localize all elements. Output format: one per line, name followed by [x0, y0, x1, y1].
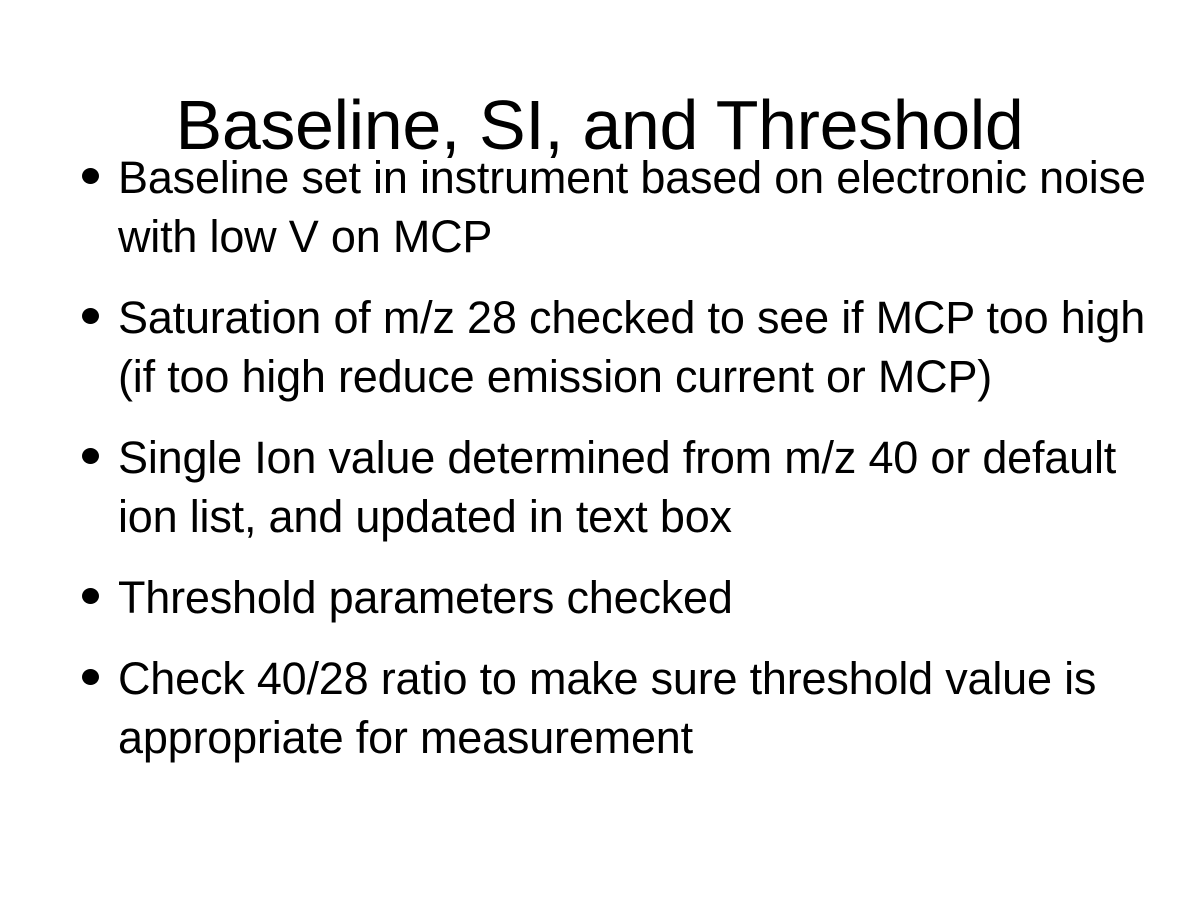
- presentation-slide: Baseline, SI, and Threshold Baseline set…: [0, 0, 1199, 899]
- list-item: Saturation of m/z 28 checked to see if M…: [75, 288, 1165, 406]
- bullet-list: Baseline set in instrument based on elec…: [75, 148, 1165, 767]
- bullet-point-icon: [82, 448, 99, 464]
- list-item: Single Ion value determined from m/z 40 …: [75, 428, 1165, 546]
- list-item: Baseline set in instrument based on elec…: [75, 148, 1165, 266]
- bullet-point-icon: [82, 669, 99, 685]
- bullet-point-icon: [82, 588, 99, 604]
- bullet-point-icon: [82, 308, 99, 324]
- list-item-label: Check 40/28 ratio to make sure threshold…: [118, 649, 1165, 767]
- list-item-label: Saturation of m/z 28 checked to see if M…: [118, 288, 1165, 406]
- list-item: Threshold parameters checked: [75, 568, 1165, 627]
- list-item-label: Single Ion value determined from m/z 40 …: [118, 428, 1165, 546]
- list-item-label: Baseline set in instrument based on elec…: [118, 148, 1165, 266]
- list-item-label: Threshold parameters checked: [118, 568, 1165, 627]
- list-item: Check 40/28 ratio to make sure threshold…: [75, 649, 1165, 767]
- bullet-point-icon: [82, 168, 99, 184]
